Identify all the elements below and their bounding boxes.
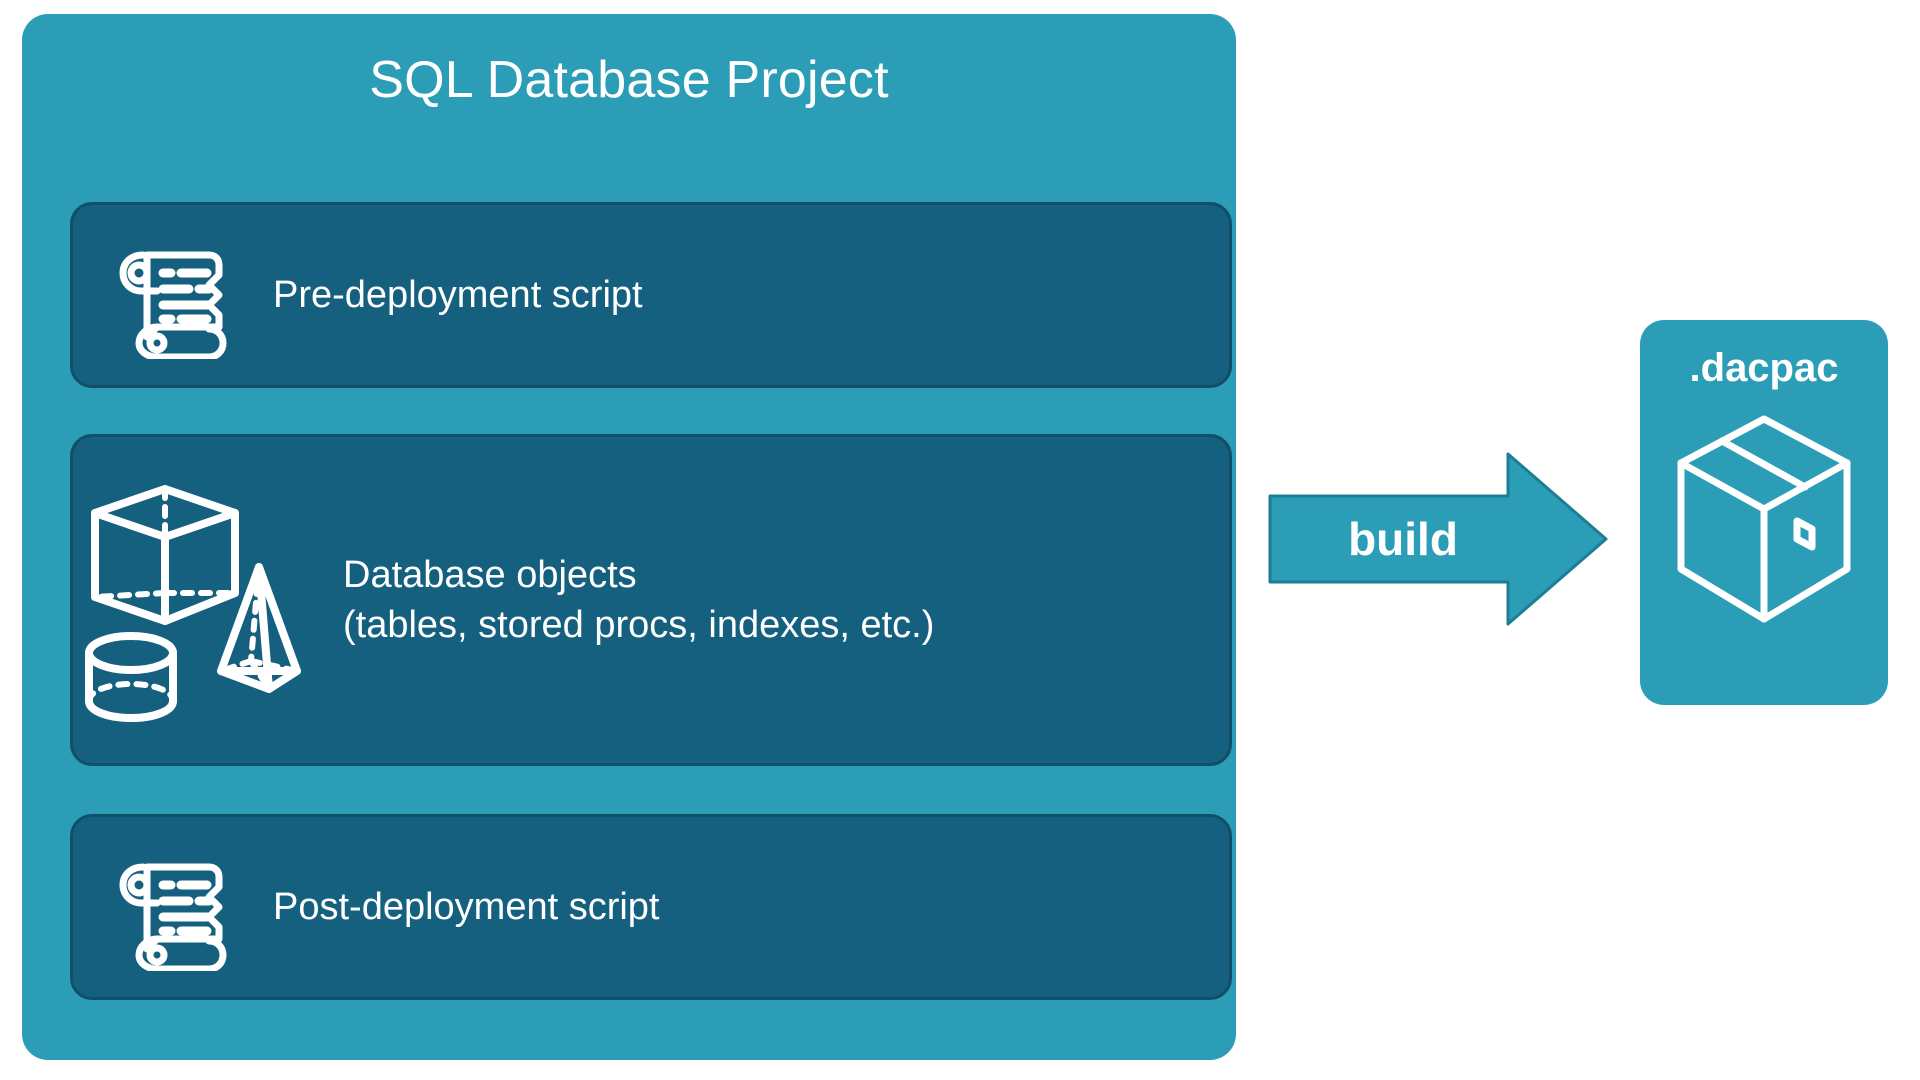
package-box-icon [1669,405,1859,633]
card-pre-deployment-script[interactable]: Pre-deployment script [70,202,1232,388]
card-post-deployment-script[interactable]: Post-deployment script [70,814,1232,1000]
card-database-objects[interactable]: Database objects (tables, stored procs, … [70,434,1232,766]
arrow-right-icon [1268,452,1608,626]
dacpac-output-card[interactable]: .dacpac [1640,320,1888,705]
3d-shapes-icon [73,475,343,725]
card-label-pre-deployment: Pre-deployment script [273,270,643,320]
sql-database-project-container: SQL Database Project [22,14,1236,1060]
diagram-canvas: SQL Database Project [0,0,1920,1080]
card-label-post-deployment: Post-deployment script [273,882,660,932]
card-label-database-objects: Database objects (tables, stored procs, … [343,550,934,650]
page-title: SQL Database Project [22,52,1236,109]
scroll-icon [73,843,273,971]
scroll-icon [73,231,273,359]
dacpac-label: .dacpac [1690,346,1839,391]
